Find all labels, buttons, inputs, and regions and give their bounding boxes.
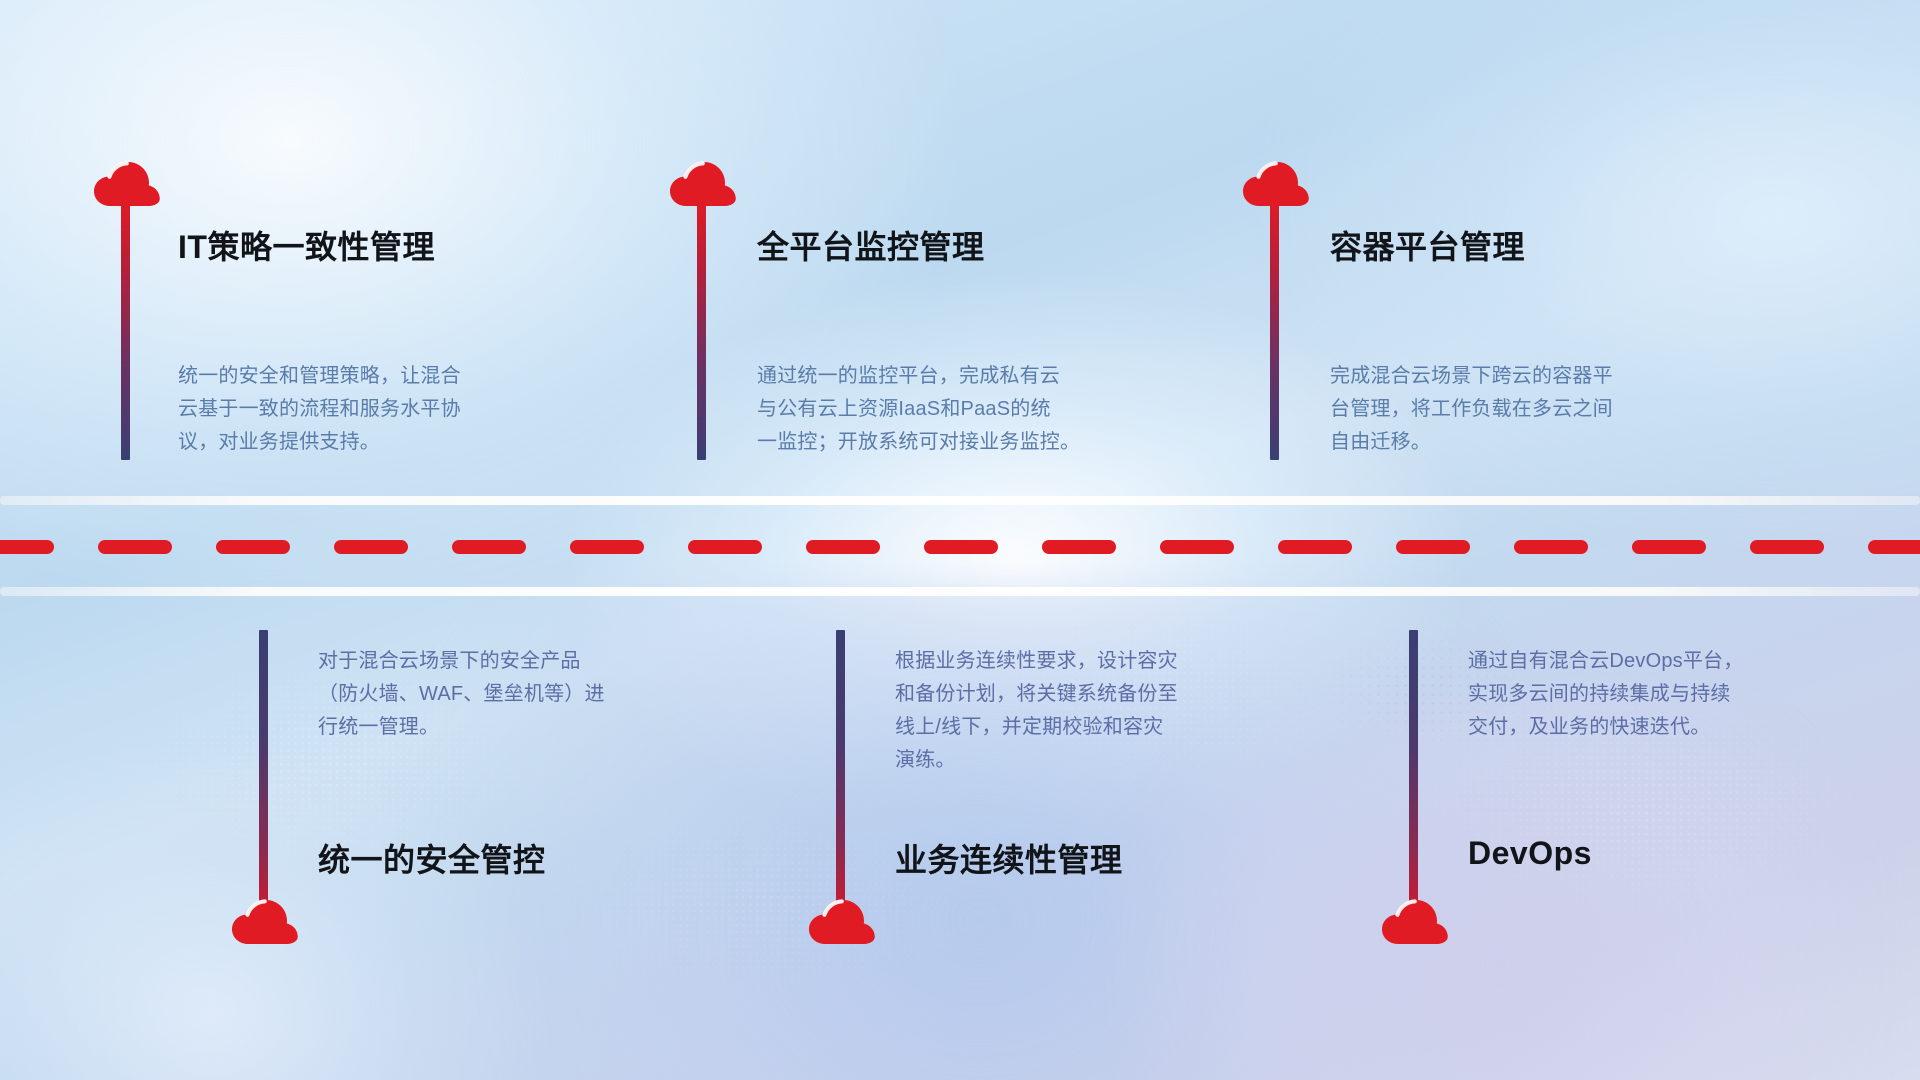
body-line: 行统一管理。 [318,711,605,744]
stem-connector [836,630,845,915]
road-dash [1750,540,1824,554]
cloud-icon [231,898,299,948]
callout-title: 容器平台管理 [1330,222,1525,268]
body-line: 对于混合云场景下的安全产品 [318,645,605,678]
road-dash [1396,540,1470,554]
callout-title: 业务连续性管理 [895,835,1123,881]
road-edge-bottom [0,587,1920,596]
cloud-icon [1381,898,1449,948]
body-line: 台管理，将工作负载在多云之间 [1330,393,1613,426]
stem-connector [697,200,706,460]
body-line: 一监控；开放系统可对接业务监控。 [757,426,1080,459]
road-dash [1160,540,1234,554]
stem-connector [259,630,268,915]
body-line: （防火墙、WAF、堡垒机等）进 [318,678,605,711]
road-dash [216,540,290,554]
road-dash [806,540,880,554]
callout-body: 统一的安全和管理策略，让混合 云基于一致的流程和服务水平协 议，对业务提供支持。 [178,360,461,459]
road-dash [1514,540,1588,554]
body-line: 完成混合云场景下跨云的容器平 [1330,360,1613,393]
callout-title: DevOps [1468,835,1592,872]
road-dash [570,540,644,554]
body-line: 根据业务连续性要求，设计容灾 [895,645,1178,678]
body-line: 通过统一的监控平台，完成私有云 [757,360,1080,393]
callout-body: 完成混合云场景下跨云的容器平 台管理，将工作负载在多云之间 自由迁移。 [1330,360,1613,459]
road-dash [452,540,526,554]
callout-title: 统一的安全管控 [318,835,546,881]
body-line: 自由迁移。 [1330,426,1613,459]
callout-body: 对于混合云场景下的安全产品 （防火墙、WAF、堡垒机等）进 行统一管理。 [318,645,605,744]
stem-connector [1270,200,1279,460]
stem-connector [1409,630,1418,915]
road-dash [1632,540,1706,554]
road-dash [1042,540,1116,554]
callout-body: 根据业务连续性要求，设计容灾 和备份计划，将关键系统备份至 线上/线下，并定期校… [895,645,1178,777]
body-line: 与公有云上资源IaaS和PaaS的统 [757,393,1080,426]
callout-body: 通过自有混合云DevOps平台， 实现多云间的持续集成与持续 交付，及业务的快速… [1468,645,1743,744]
road-dash [98,540,172,554]
stem-connector [121,200,130,460]
body-line: 议，对业务提供支持。 [178,426,461,459]
body-line: 云基于一致的流程和服务水平协 [178,393,461,426]
road-dash [1868,540,1920,554]
road-dash [0,540,54,554]
body-line: 线上/线下，并定期校验和容灾 [895,711,1178,744]
road-dash [688,540,762,554]
body-line: 实现多云间的持续集成与持续 [1468,678,1743,711]
callout-title: IT策略一致性管理 [178,222,435,268]
road-divider [0,496,1920,596]
road-dash [1278,540,1352,554]
callout-title: 全平台监控管理 [757,222,985,268]
road-dash [334,540,408,554]
road-dash [924,540,998,554]
body-line: 统一的安全和管理策略，让混合 [178,360,461,393]
body-line: 交付，及业务的快速迭代。 [1468,711,1743,744]
infographic-canvas: IT策略一致性管理 统一的安全和管理策略，让混合 云基于一致的流程和服务水平协 … [0,0,1920,1080]
body-line: 通过自有混合云DevOps平台， [1468,645,1743,678]
cloud-icon [808,898,876,948]
body-line: 演练。 [895,744,1178,777]
road-edge-top [0,496,1920,505]
callout-body: 通过统一的监控平台，完成私有云 与公有云上资源IaaS和PaaS的统 一监控；开… [757,360,1080,459]
body-line: 和备份计划，将关键系统备份至 [895,678,1178,711]
road-dash-line [0,540,1920,554]
